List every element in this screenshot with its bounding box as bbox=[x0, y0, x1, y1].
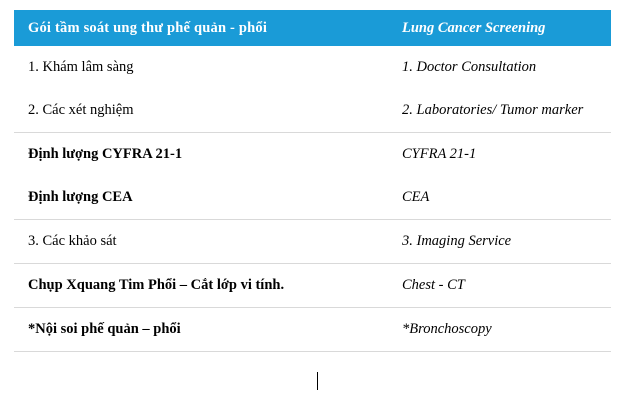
row-cell-vietnamese: Định lượng CEA bbox=[14, 176, 396, 220]
document-page: Gói tầm soát ung thư phế quản - phổi Lun… bbox=[0, 0, 641, 411]
text-cursor-caret bbox=[317, 372, 318, 390]
table-row: Định lượng CYFRA 21-1 CYFRA 21-1 bbox=[14, 133, 611, 177]
row-cell-vietnamese: 1. Khám lâm sàng bbox=[14, 46, 396, 89]
header-cell-english: Lung Cancer Screening bbox=[396, 10, 611, 46]
row-cell-english: CYFRA 21-1 bbox=[396, 133, 611, 177]
table-row: 2. Các xét nghiệm 2. Laboratories/ Tumor… bbox=[14, 89, 611, 133]
table-body: Gói tầm soát ung thư phế quản - phổi Lun… bbox=[14, 10, 611, 352]
lung-cancer-screening-table: Gói tầm soát ung thư phế quản - phổi Lun… bbox=[14, 10, 611, 352]
row-cell-vietnamese: Định lượng CYFRA 21-1 bbox=[14, 133, 396, 177]
table-row: 3. Các khảo sát 3. Imaging Service bbox=[14, 220, 611, 264]
table-row: Chụp Xquang Tim Phổi – Cắt lớp vi tính. … bbox=[14, 264, 611, 308]
table-row: Định lượng CEA CEA bbox=[14, 176, 611, 220]
row-cell-english: Chest - CT bbox=[396, 264, 611, 308]
row-cell-vietnamese: 2. Các xét nghiệm bbox=[14, 89, 396, 133]
row-cell-english: CEA bbox=[396, 176, 611, 220]
row-cell-english: *Bronchoscopy bbox=[396, 308, 611, 352]
row-cell-english: 3. Imaging Service bbox=[396, 220, 611, 264]
row-cell-vietnamese: Chụp Xquang Tim Phổi – Cắt lớp vi tính. bbox=[14, 264, 396, 308]
row-cell-english: 2. Laboratories/ Tumor marker bbox=[396, 89, 611, 133]
header-cell-vietnamese: Gói tầm soát ung thư phế quản - phổi bbox=[14, 10, 396, 46]
row-cell-vietnamese: 3. Các khảo sát bbox=[14, 220, 396, 264]
table-header-row: Gói tầm soát ung thư phế quản - phổi Lun… bbox=[14, 10, 611, 46]
table-row: *Nội soi phế quản – phổi *Bronchoscopy bbox=[14, 308, 611, 352]
row-cell-english: 1. Doctor Consultation bbox=[396, 46, 611, 89]
row-cell-vietnamese: *Nội soi phế quản – phổi bbox=[14, 308, 396, 352]
table-row: 1. Khám lâm sàng 1. Doctor Consultation bbox=[14, 46, 611, 89]
